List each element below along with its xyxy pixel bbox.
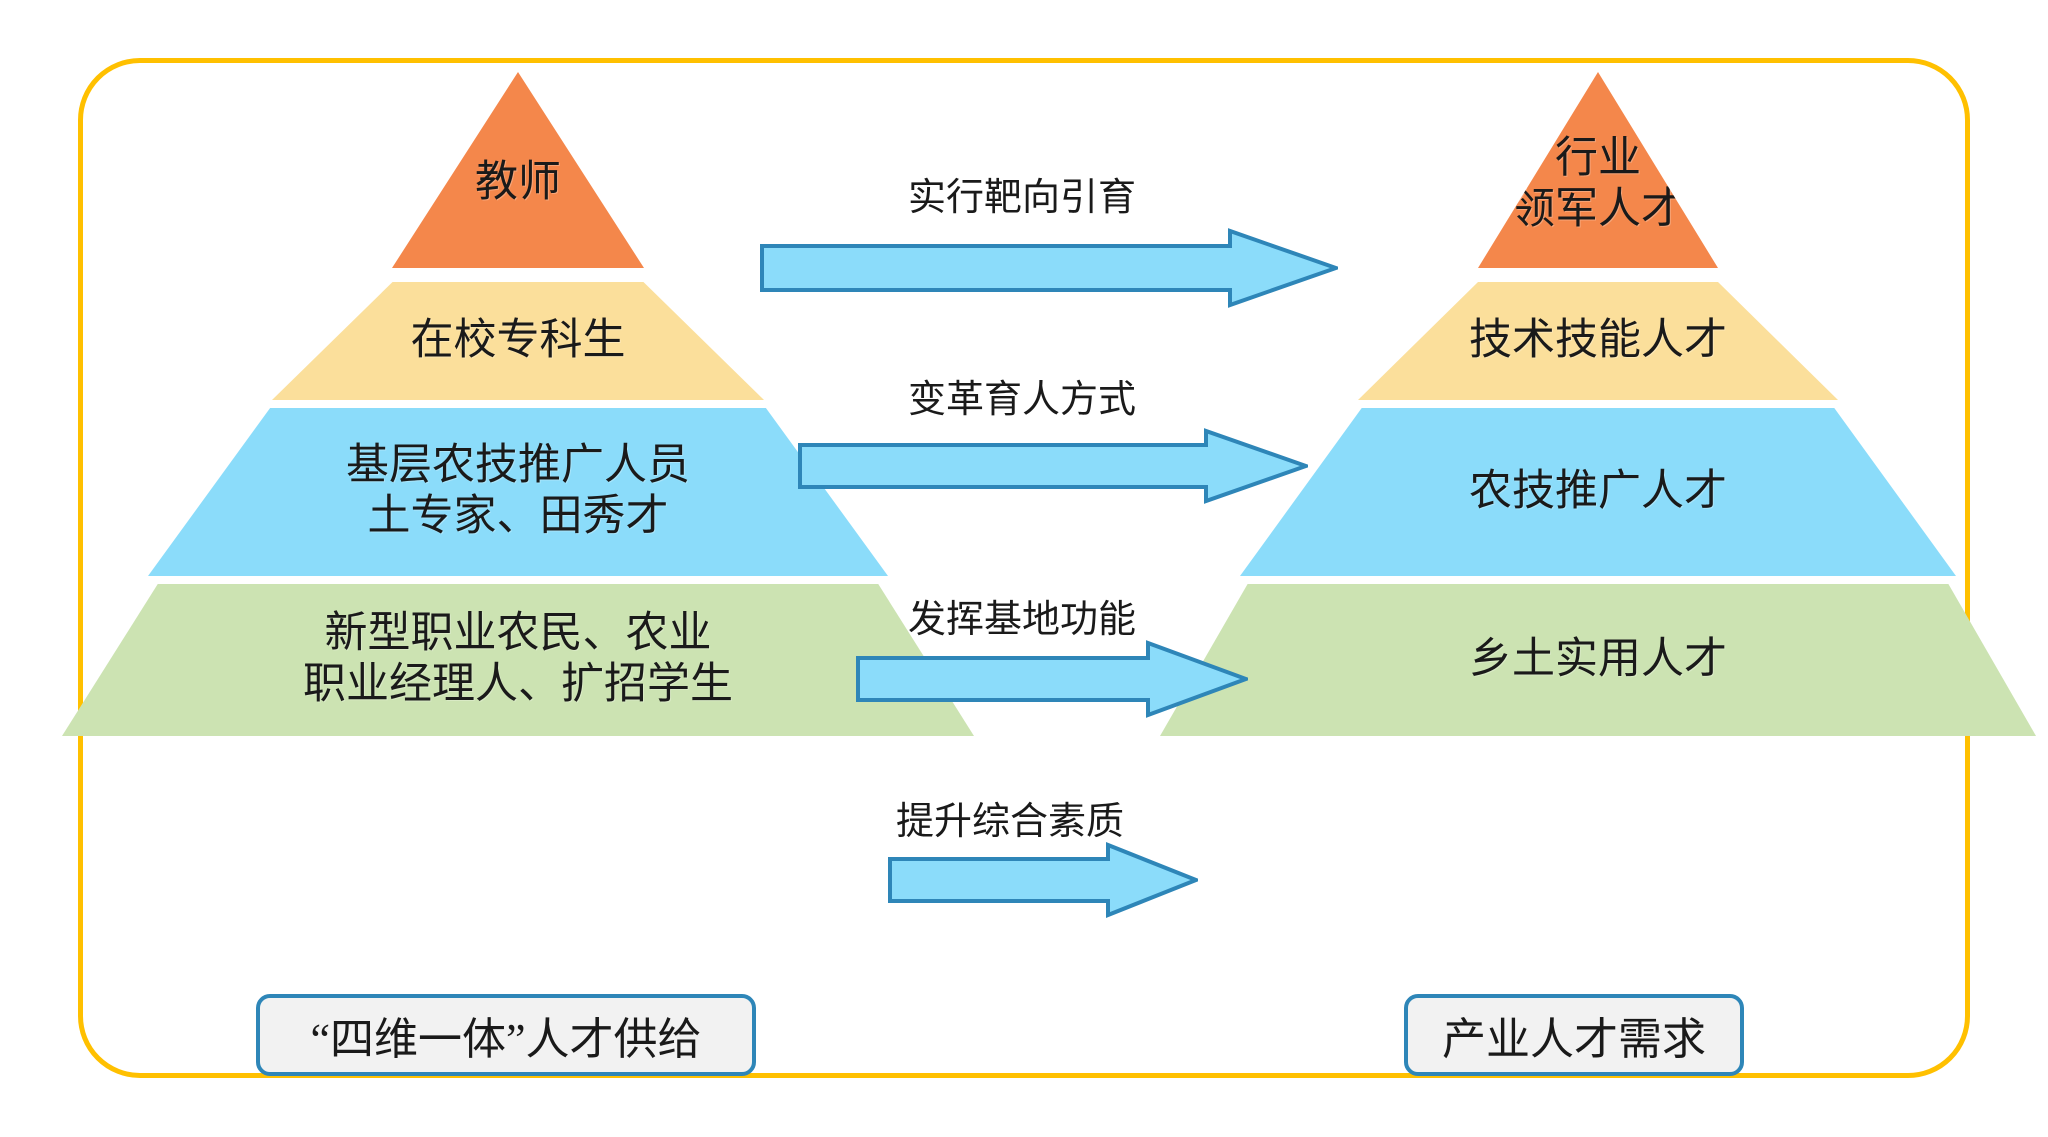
arrow-label-3: 发挥基地功能: [908, 588, 1136, 643]
left-pyramid-level-2-label: 在校专科生: [411, 316, 626, 367]
arrow-shape-3: [856, 640, 1248, 718]
arrow-label-2: 变革育人方式: [908, 368, 1136, 423]
left-pyramid-level-4: 新型职业农民、农业 职业经理人、扩招学生: [62, 584, 974, 736]
right-caption-label: 产业人才需求: [1442, 1003, 1706, 1067]
right-pyramid-level-4: 乡土实用人才: [1160, 584, 2036, 736]
arrow-label-1: 实行靶向引育: [908, 166, 1136, 221]
left-caption-label: “四维一体”人才供给: [310, 1003, 701, 1067]
left-pyramid-level-1-label: 教师: [475, 158, 561, 209]
arrow-shape-4: [888, 842, 1198, 918]
right-pyramid-level-2-label: 技术技能人才: [1469, 316, 1727, 367]
arrow-shape-2: [798, 428, 1308, 504]
right-caption-box: 产业人才需求: [1404, 994, 1744, 1076]
left-pyramid-level-3-label: 基层农技推广人员 土专家、田秀才: [346, 441, 690, 542]
diagram-canvas: 教师 在校专科生 基层农技推广人员 土专家、田秀才 新型职业农民、农业 职业经理…: [0, 0, 2048, 1137]
left-caption-box: “四维一体”人才供给: [256, 994, 756, 1076]
arrow-label-4: 提升综合素质: [896, 790, 1124, 845]
right-pyramid-level-4-label: 乡土实用人才: [1469, 635, 1727, 686]
left-pyramid-level-4-label: 新型职业农民、农业 职业经理人、扩招学生: [303, 609, 733, 710]
arrow-shape-1: [760, 228, 1338, 308]
left-pyramid-level-3: 基层农技推广人员 土专家、田秀才: [148, 408, 888, 576]
right-pyramid-level-3-label: 农技推广人才: [1469, 467, 1727, 518]
right-pyramid-level-3: 农技推广人才: [1240, 408, 1956, 576]
